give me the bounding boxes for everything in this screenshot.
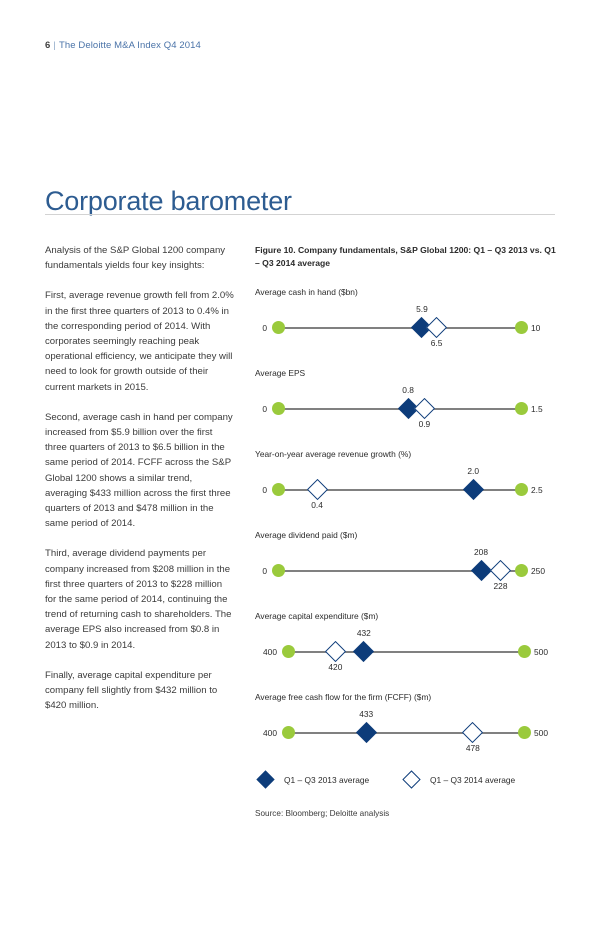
marker-value-label: 0.4 [297,500,337,510]
chart-plot-area: 0105.96.5 [255,302,560,354]
marker-2014-open-diamond-icon [490,560,511,581]
axis-line [288,732,525,734]
axis-tick-max: 500 [534,647,548,657]
paragraph: Second, average cash in hand per company… [45,410,235,532]
chart-1: Average cash in hand ($bn)0105.96.5 [255,287,560,354]
marker-2013-filled-diamond-icon [463,479,484,500]
open-diamond-icon [402,770,420,788]
chart-title: Year-on-year average revenue growth (%) [255,449,560,460]
marker-value-label: 6.5 [417,338,457,348]
marker-2014-open-diamond-icon [462,722,483,743]
marker-2014-open-diamond-icon [325,641,346,662]
axis-tick-min: 0 [255,485,267,495]
legend-item-2013: Q1 – Q3 2013 average [259,773,369,786]
axis-tick-max: 500 [534,728,548,738]
chart-2: Average EPS01.50.80.9 [255,368,560,435]
chart-plot-area: 02.52.00.4 [255,464,560,516]
axis-tick-min: 0 [255,323,267,333]
chart-plot-area: 01.50.80.9 [255,383,560,435]
axis-endpoint-min-icon [272,402,285,415]
chart-5: Average capital expenditure ($m)40050043… [255,611,560,678]
axis-endpoint-max-icon [515,564,528,577]
axis-line [278,327,522,329]
page-title: Corporate barometer [45,186,292,217]
header-separator: | [53,40,56,51]
axis-tick-max: 1.5 [531,404,543,414]
chart-plot-area: 400500433478 [255,707,560,759]
axis-endpoint-min-icon [272,564,285,577]
axis-endpoint-max-icon [518,726,531,739]
marker-value-label: 0.9 [404,419,444,429]
paragraph: Analysis of the S&P Global 1200 company … [45,243,235,273]
axis-endpoint-min-icon [282,645,295,658]
axis-tick-max: 10 [531,323,540,333]
marker-2014-open-diamond-icon [306,479,327,500]
chart-title: Average free cash flow for the firm (FCF… [255,692,560,703]
chart-title: Average dividend paid ($m) [255,530,560,541]
marker-2014-open-diamond-icon [426,317,447,338]
axis-tick-min: 400 [255,647,277,657]
paragraph: Third, average dividend payments per com… [45,546,235,652]
marker-value-label: 228 [481,581,521,591]
axis-endpoint-min-icon [272,321,285,334]
document-page: 6|The Deloitte M&A Index Q4 2014 Corpora… [0,0,600,935]
chart-list: Average cash in hand ($bn)0105.96.5Avera… [255,287,560,759]
legend-label: Q1 – Q3 2014 average [430,775,515,785]
paragraph: Finally, average capital expenditure per… [45,668,235,714]
marker-value-label: 420 [315,662,355,672]
figure-panel: Figure 10. Company fundamentals, S&P Glo… [255,244,560,818]
axis-endpoint-min-icon [282,726,295,739]
marker-value-label: 5.9 [402,304,442,314]
chart-title: Average cash in hand ($bn) [255,287,560,298]
marker-value-label: 2.0 [453,466,493,476]
axis-endpoint-min-icon [272,483,285,496]
axis-endpoint-max-icon [515,321,528,334]
figure-source: Source: Bloomberg; Deloitte analysis [255,809,560,818]
marker-2013-filled-diamond-icon [356,722,377,743]
axis-tick-min: 0 [255,404,267,414]
chart-title: Average EPS [255,368,560,379]
marker-2013-filled-diamond-icon [470,560,491,581]
axis-tick-max: 2.5 [531,485,543,495]
marker-2013-filled-diamond-icon [353,641,374,662]
document-title: The Deloitte M&A Index Q4 2014 [59,40,201,51]
chart-title: Average capital expenditure ($m) [255,611,560,622]
marker-value-label: 478 [453,743,493,753]
marker-value-label: 208 [461,547,501,557]
legend-item-2014: Q1 – Q3 2014 average [405,773,515,786]
marker-value-label: 433 [346,709,386,719]
chart-6: Average free cash flow for the firm (FCF… [255,692,560,759]
figure-caption: Figure 10. Company fundamentals, S&P Glo… [255,244,560,269]
axis-endpoint-max-icon [515,402,528,415]
figure-legend: Q1 – Q3 2013 average Q1 – Q3 2014 averag… [255,773,560,795]
axis-endpoint-max-icon [515,483,528,496]
axis-tick-min: 400 [255,728,277,738]
marker-value-label: 432 [344,628,384,638]
axis-endpoint-max-icon [518,645,531,658]
chart-plot-area: 0250208228 [255,545,560,597]
title-divider [45,214,555,215]
chart-3: Year-on-year average revenue growth (%)0… [255,449,560,516]
page-header: 6|The Deloitte M&A Index Q4 2014 [45,40,201,51]
marker-2014-open-diamond-icon [414,398,435,419]
filled-diamond-icon [256,770,274,788]
legend-label: Q1 – Q3 2013 average [284,775,369,785]
article-body: Analysis of the S&P Global 1200 company … [45,243,235,728]
marker-value-label: 0.8 [388,385,428,395]
chart-4: Average dividend paid ($m)0250208228 [255,530,560,597]
paragraph: First, average revenue growth fell from … [45,288,235,394]
chart-plot-area: 400500432420 [255,626,560,678]
page-number: 6 [45,40,50,51]
axis-line [288,651,525,653]
axis-tick-min: 0 [255,566,267,576]
axis-tick-max: 250 [531,566,545,576]
